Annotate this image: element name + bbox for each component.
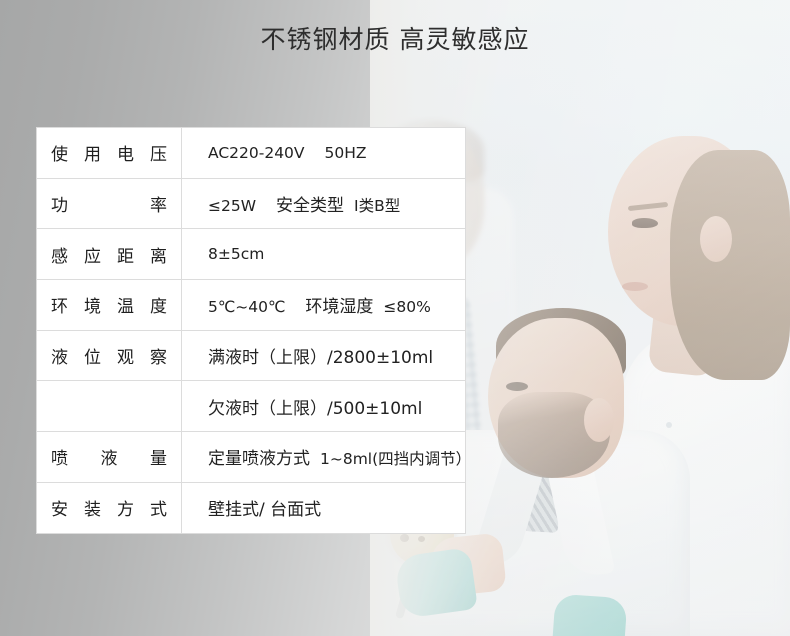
- label-char: 功: [51, 191, 68, 216]
- spec-label-empty: [37, 381, 182, 432]
- spec-value-main: 满液时（上限）/2800±10ml: [208, 348, 433, 368]
- specification-table: 使 用 电 压 AC220-240V50HZ 功 率: [36, 127, 466, 534]
- spec-value-extra: 50HZ: [325, 144, 367, 162]
- label-char: 装: [84, 495, 101, 520]
- table-row: 安 装 方 式 壁挂式/ 台面式: [37, 482, 466, 533]
- label-char: 喷: [51, 444, 68, 469]
- label-char: 使: [51, 140, 68, 165]
- label-char: 位: [84, 343, 101, 368]
- spec-value-liquid-level-full: 满液时（上限）/2800±10ml: [182, 330, 466, 381]
- spec-value-main: 8±5cm: [208, 245, 264, 263]
- spec-label-ambient-temperature: 环 境 温 度: [37, 280, 182, 331]
- spec-value-sublabel: 安全类型: [276, 196, 344, 216]
- spec-value-liquid-level-low: 欠液时（上限）/500±10ml: [182, 381, 466, 432]
- spec-label-installation: 安 装 方 式: [37, 482, 182, 533]
- table-row: 环 境 温 度 5℃~40℃环境湿度≤80%: [37, 280, 466, 331]
- spec-value-sublabel: 环境湿度: [305, 297, 373, 317]
- spec-label-sensing-distance: 感 应 距 离: [37, 229, 182, 280]
- spec-value-extra: 1~8ml(四挡内调节）: [320, 450, 471, 468]
- spec-value-main: 定量喷液方式: [208, 449, 310, 469]
- label-char: 率: [150, 191, 167, 216]
- label-char: 察: [150, 343, 167, 368]
- spec-label-power: 功 率: [37, 178, 182, 229]
- spec-value-installation: 壁挂式/ 台面式: [182, 482, 466, 533]
- table-row: 功 率 ≤25W安全类型I类B型: [37, 178, 466, 229]
- spec-value-main: ≤25W: [208, 197, 256, 215]
- spec-value-main: AC220-240V: [208, 144, 305, 162]
- label-char: 度: [150, 292, 167, 317]
- label-char: 离: [150, 242, 167, 267]
- label-char: 用: [84, 140, 101, 165]
- spec-value-extra: I类B型: [354, 197, 400, 215]
- table-row: 液 位 观 察 满液时（上限）/2800±10ml: [37, 330, 466, 381]
- label-char: 压: [150, 140, 167, 165]
- product-spec-page: 不锈钢材质 高灵敏感应 使 用 电 压 AC220-240V50HZ: [0, 0, 790, 636]
- specification-table-body: 使 用 电 压 AC220-240V50HZ 功 率: [37, 128, 466, 534]
- spec-label-liquid-level: 液 位 观 察: [37, 330, 182, 381]
- spec-value-voltage: AC220-240V50HZ: [182, 128, 466, 179]
- label-char: 温: [117, 292, 134, 317]
- spec-value-main: 壁挂式/ 台面式: [208, 500, 321, 520]
- spec-label-voltage: 使 用 电 压: [37, 128, 182, 179]
- label-char: 境: [84, 292, 101, 317]
- spec-value-main: 5℃~40℃: [208, 298, 285, 316]
- label-char: 方: [117, 495, 134, 520]
- table-row: 感 应 距 离 8±5cm: [37, 229, 466, 280]
- label-char: 电: [117, 140, 134, 165]
- label-char: 感: [51, 242, 68, 267]
- label-char: 式: [150, 495, 167, 520]
- page-title: 不锈钢材质 高灵敏感应: [0, 20, 790, 56]
- table-row: 喷 液 量 定量喷液方式1~8ml(四挡内调节）: [37, 432, 466, 483]
- label-char: 量: [150, 444, 167, 469]
- label-char: 液: [51, 343, 68, 368]
- spec-value-sensing-distance: 8±5cm: [182, 229, 466, 280]
- label-char: 距: [117, 242, 134, 267]
- spec-value-extra: ≤80%: [383, 298, 430, 316]
- spec-value-power: ≤25W安全类型I类B型: [182, 178, 466, 229]
- table-row: 欠液时（上限）/500±10ml: [37, 381, 466, 432]
- spec-value-spray-volume: 定量喷液方式1~8ml(四挡内调节）: [182, 432, 466, 483]
- label-char: 环: [51, 292, 68, 317]
- label-char: 观: [117, 343, 134, 368]
- table-row: 使 用 电 压 AC220-240V50HZ: [37, 128, 466, 179]
- spec-value-main: 欠液时（上限）/500±10ml: [208, 399, 422, 419]
- label-char: 安: [51, 495, 68, 520]
- spec-value-ambient-temperature: 5℃~40℃环境湿度≤80%: [182, 280, 466, 331]
- label-char: 应: [84, 242, 101, 267]
- label-char: 液: [101, 444, 118, 469]
- spec-label-spray-volume: 喷 液 量: [37, 432, 182, 483]
